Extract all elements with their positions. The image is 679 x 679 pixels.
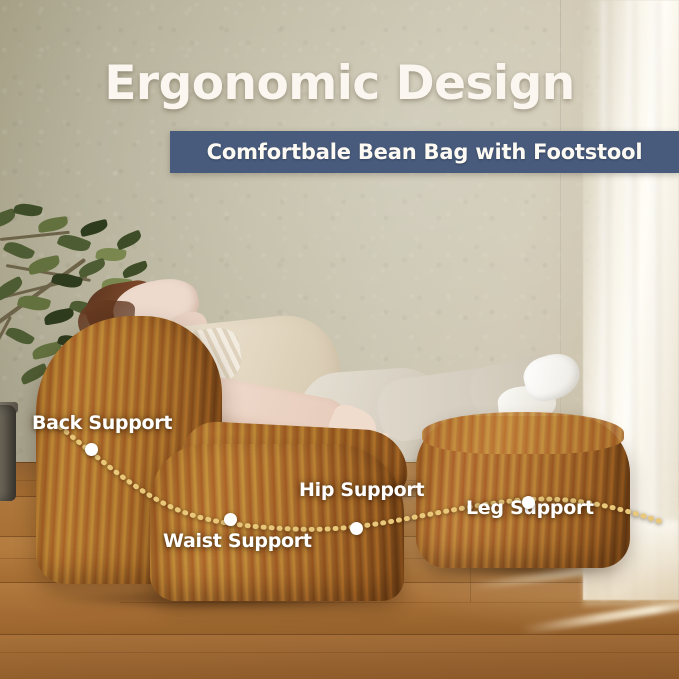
corduroy-ribs — [150, 444, 404, 601]
subtitle-text: Comfortbale Bean Bag with Footstool — [170, 131, 679, 173]
footstool-top — [422, 412, 624, 454]
corduroy-ribs — [422, 412, 624, 454]
subtitle-banner: Comfortbale Bean Bag with Footstool — [170, 131, 679, 173]
bean-bag-chair — [32, 316, 404, 601]
product-marketing-image: Ergonomic Design Comfortbale Bean Bag wi… — [0, 0, 679, 679]
chair-seat — [150, 444, 404, 601]
footstool-ottoman — [416, 416, 630, 576]
